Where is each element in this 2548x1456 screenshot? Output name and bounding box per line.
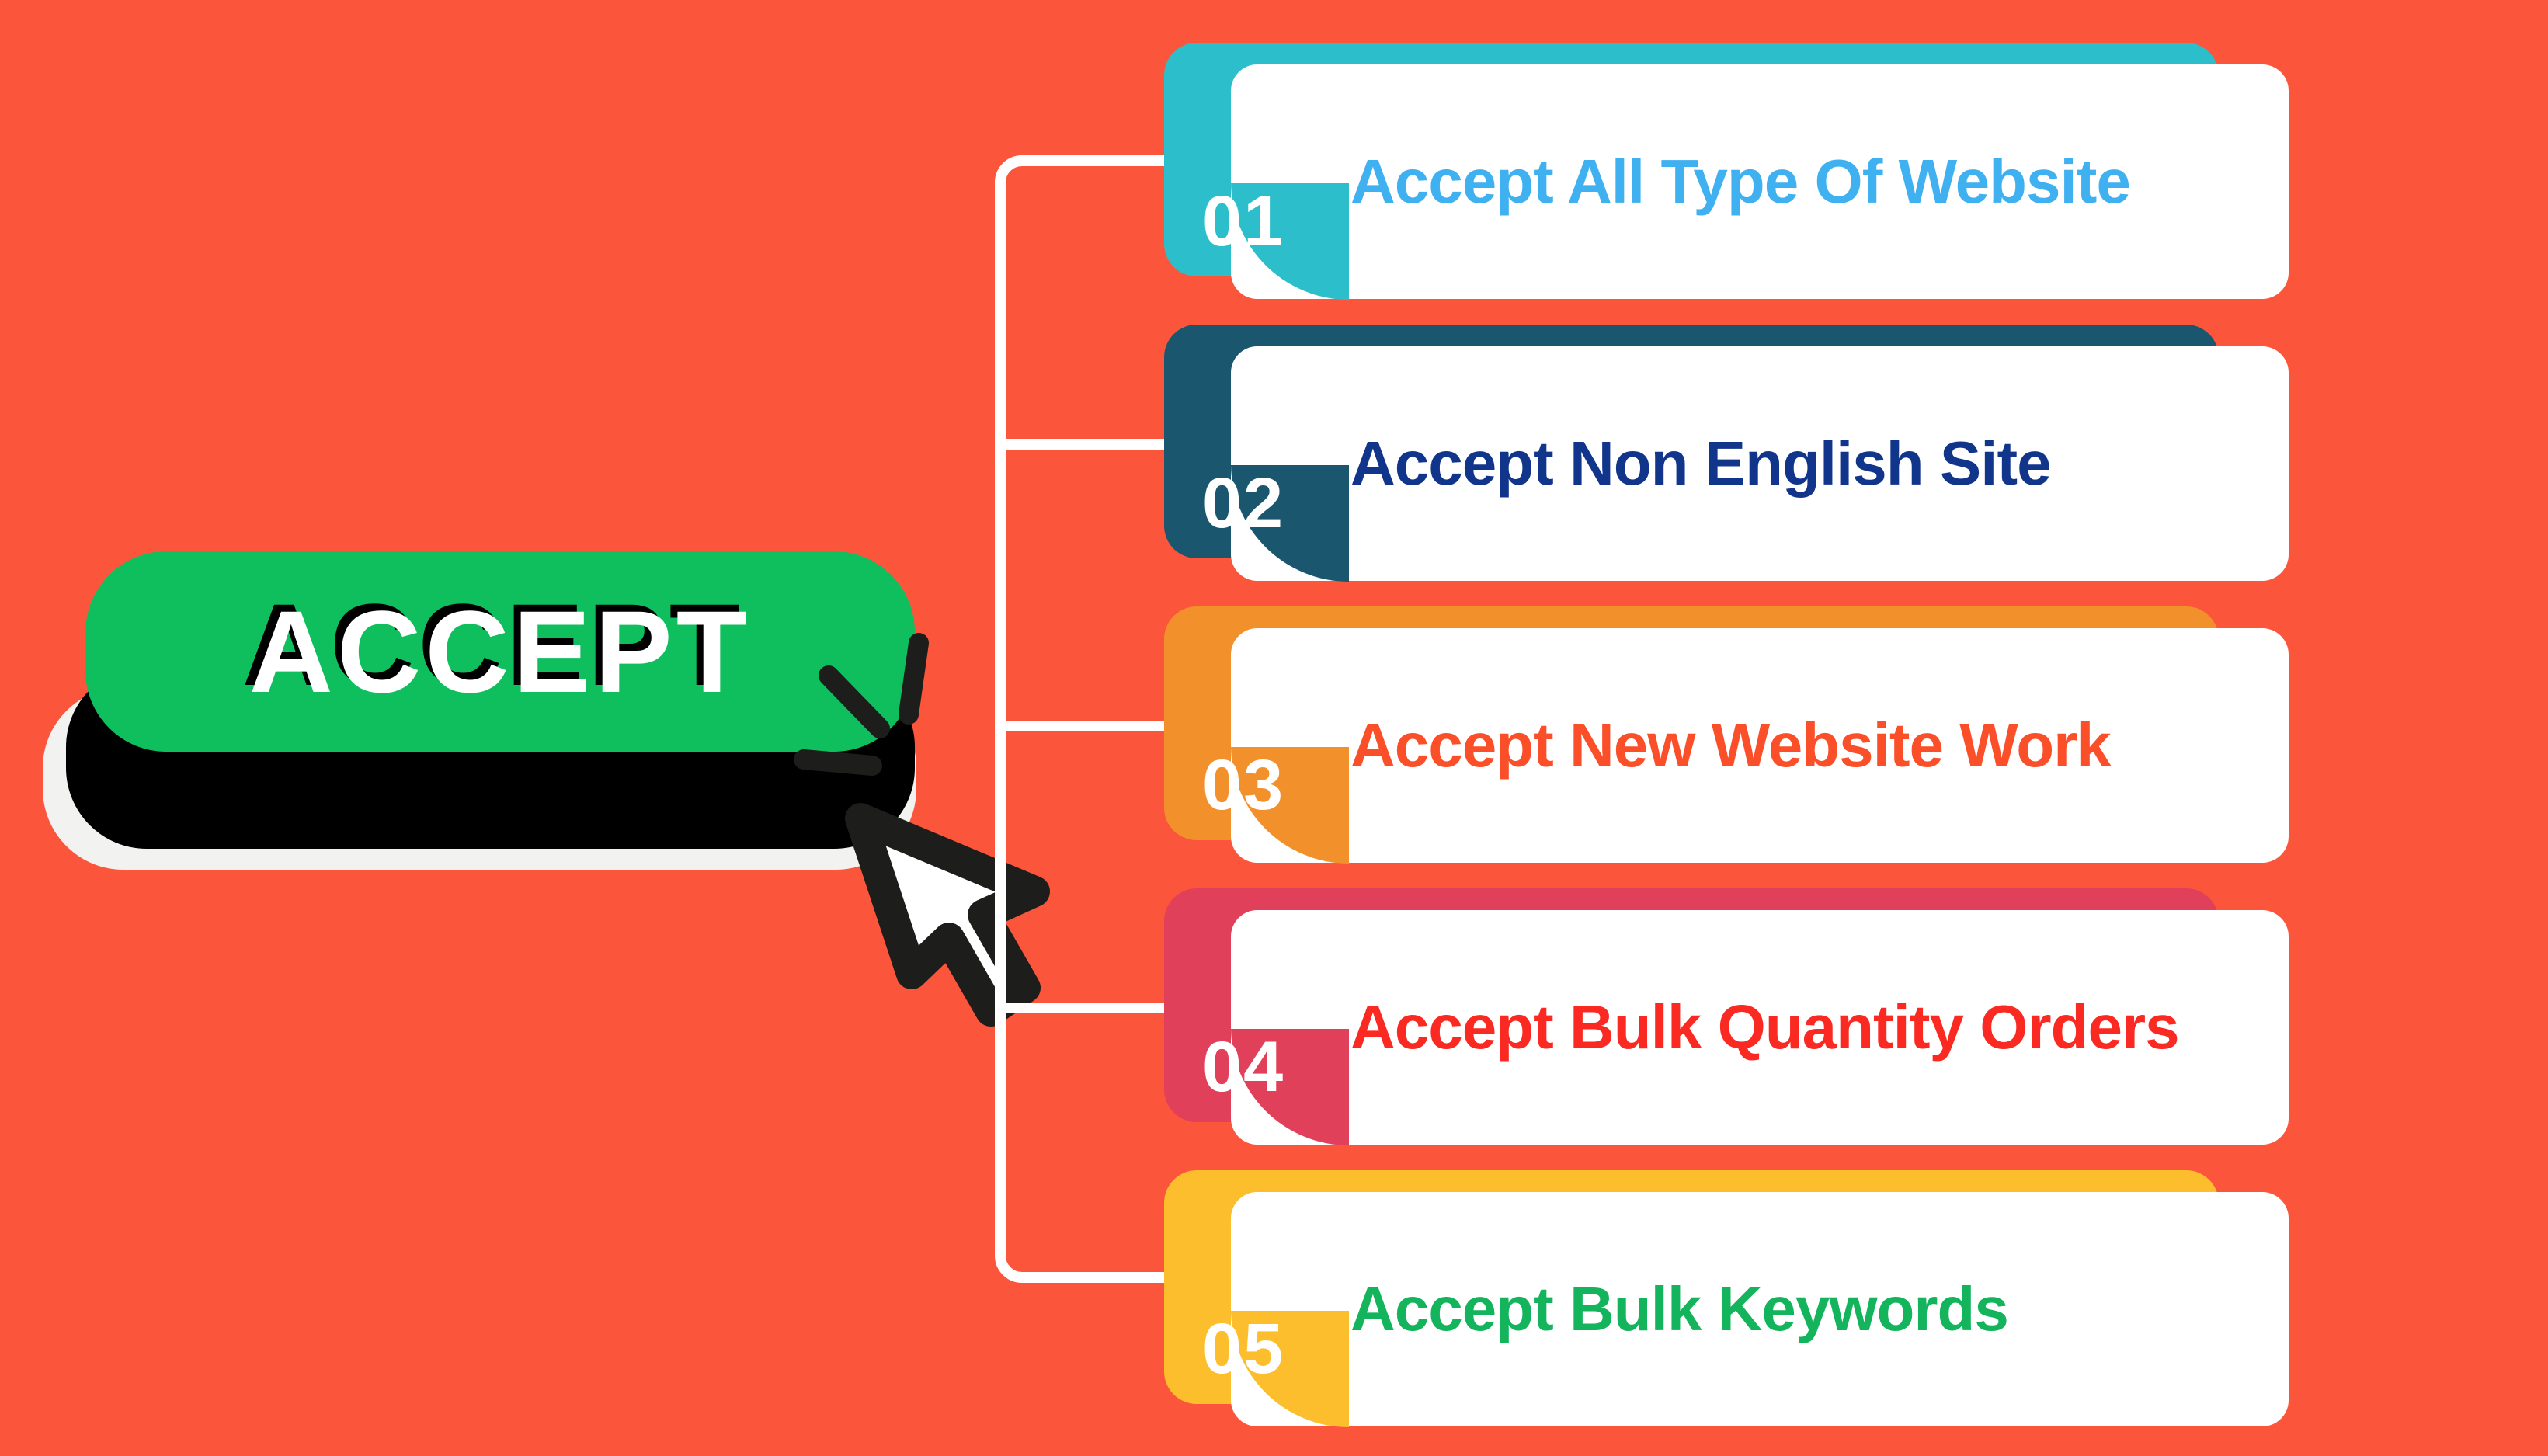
card-title: Accept New Website Work	[1350, 628, 2267, 863]
card-title: Accept All Type Of Website	[1350, 64, 2267, 299]
card-number: 02	[1181, 457, 1305, 550]
card-number: 05	[1181, 1302, 1305, 1395]
card-number: 04	[1181, 1020, 1305, 1114]
card-row[interactable]: 02 Accept Non English Site	[1164, 325, 2290, 589]
card-row[interactable]: 01 Accept All Type Of Website	[1164, 43, 2290, 307]
card-title: Accept Non English Site	[1350, 346, 2267, 581]
card-list: 01 Accept All Type Of Website 02 Accept …	[0, 0, 2548, 1456]
card-row[interactable]: 05 Accept Bulk Keywords	[1164, 1170, 2290, 1434]
card-row[interactable]: 04 Accept Bulk Quantity Orders	[1164, 888, 2290, 1152]
card-number: 03	[1181, 738, 1305, 832]
infographic-canvas: ACCEPT	[0, 0, 2548, 1456]
card-number: 01	[1181, 175, 1305, 268]
card-title: Accept Bulk Quantity Orders	[1350, 910, 2267, 1145]
card-row[interactable]: 03 Accept New Website Work	[1164, 606, 2290, 870]
card-title: Accept Bulk Keywords	[1350, 1192, 2267, 1426]
